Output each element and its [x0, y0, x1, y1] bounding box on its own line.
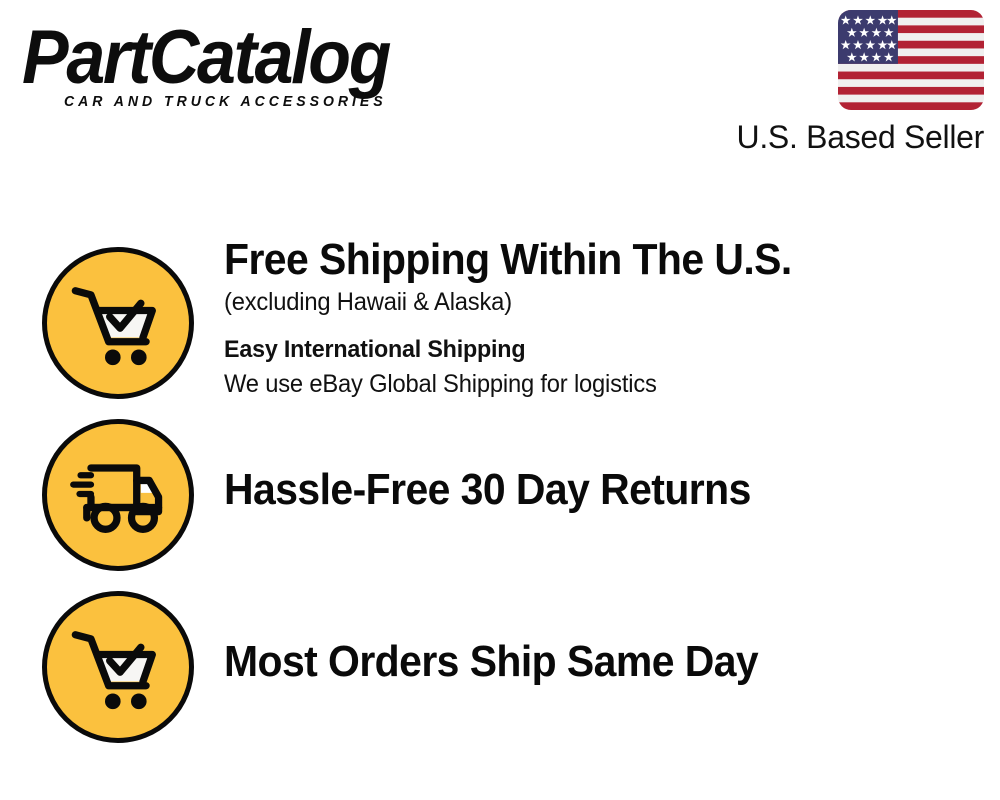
feature-international-detail: We use eBay Global Shipping for logistic… — [224, 367, 927, 401]
brand-logo: PartCatalog CAR AND TRUCK ACCESSORIES — [22, 22, 492, 114]
seller-banner: PartCatalog CAR AND TRUCK ACCESSORIES — [0, 0, 1000, 800]
feature-international-heading: Easy International Shipping — [224, 333, 927, 367]
brand-wordmark: PartCatalog — [22, 22, 454, 94]
feature-title: Free Shipping Within The U.S. — [224, 235, 912, 285]
feature-title: Hassle-Free 30 Day Returns — [224, 465, 912, 515]
delivery-truck-icon — [42, 419, 194, 571]
us-based-seller-label: U.S. Based Seller — [0, 119, 984, 156]
feature-free-shipping-text: Free Shipping Within The U.S. (excluding… — [224, 235, 964, 401]
us-flag-icon — [838, 10, 984, 110]
feature-returns-text: Hassle-Free 30 Day Returns — [224, 465, 964, 515]
shopping-cart-check-icon — [42, 247, 194, 399]
brand-tagline: CAR AND TRUCK ACCESSORIES — [64, 94, 387, 110]
feature-exclusion-note: (excluding Hawaii & Alaska) — [224, 285, 927, 319]
feature-same-day-text: Most Orders Ship Same Day — [224, 637, 964, 687]
feature-title: Most Orders Ship Same Day — [224, 637, 912, 687]
shopping-cart-check-icon — [42, 591, 194, 743]
